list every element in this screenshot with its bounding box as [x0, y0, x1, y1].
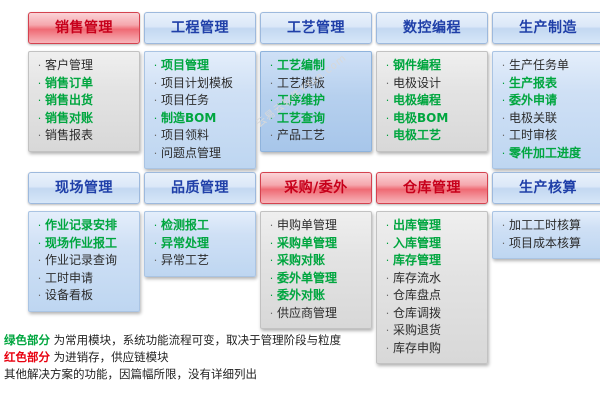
- bullet-icon: ·: [34, 93, 45, 110]
- bullet-icon: ·: [150, 76, 161, 93]
- module-item[interactable]: ·问题点管理: [150, 145, 252, 163]
- bullet-icon: ·: [498, 128, 509, 145]
- module-list-manufacturing: ·生产任务单·生产报表·委外申请·电极关联·工时审核·零件加工进度: [492, 51, 600, 169]
- bullet-icon: ·: [150, 111, 161, 128]
- module-item[interactable]: ·作业记录查询: [34, 252, 136, 270]
- module-item-label: 作业记录查询: [45, 252, 117, 269]
- module-header-process[interactable]: 工艺管理: [260, 12, 372, 44]
- bullet-icon: ·: [382, 271, 393, 288]
- module-list-purchasing: ·申购单管理·采购单管理·采购对账·委外单管理·委外对账·供应商管理: [260, 211, 372, 329]
- module-item[interactable]: ·销售订单: [34, 75, 136, 93]
- bullet-icon: ·: [266, 288, 277, 305]
- module-item-label: 产品工艺: [277, 127, 325, 144]
- bullet-icon: ·: [382, 128, 393, 145]
- bullet-icon: ·: [498, 58, 509, 75]
- bullet-icon: ·: [266, 93, 277, 110]
- module-item-label: 项目任务: [161, 92, 209, 109]
- module-column-warehouse: 仓库管理·出库管理·入库管理·库存管理·库存流水·仓库盘点·仓库调拨·采购退货·…: [376, 172, 488, 364]
- bullet-icon: ·: [150, 93, 161, 110]
- bullet-icon: ·: [266, 58, 277, 75]
- bullet-icon: ·: [382, 253, 393, 270]
- module-item[interactable]: ·委外对账: [266, 287, 368, 305]
- module-item[interactable]: ·现场作业报工: [34, 235, 136, 253]
- module-item-label: 项目管理: [161, 57, 209, 74]
- module-item[interactable]: ·项目计划模板: [150, 75, 252, 93]
- module-header-cnc[interactable]: 数控编程: [376, 12, 488, 44]
- module-item-label: 电极工艺: [393, 127, 441, 144]
- bullet-icon: ·: [34, 111, 45, 128]
- module-item[interactable]: ·库存申购: [382, 340, 484, 358]
- module-item-label: 项目计划模板: [161, 75, 233, 92]
- module-item-label: 库存管理: [393, 252, 441, 269]
- module-item-label: 异常处理: [161, 235, 209, 252]
- module-item[interactable]: ·销售对账: [34, 110, 136, 128]
- module-list-sales: ·客户管理·销售订单·销售出货·销售对账·销售报表: [28, 51, 140, 152]
- bullet-icon: ·: [150, 128, 161, 145]
- bullet-icon: ·: [34, 76, 45, 93]
- bullet-icon: ·: [34, 253, 45, 270]
- module-list-costing: ·加工工时核算·项目成本核算: [492, 211, 600, 259]
- module-item-label: 工时申请: [45, 270, 93, 287]
- legend-green-keyword: 绿色部分: [4, 333, 50, 347]
- legend-line-3: 其他解决方案的功能，因篇幅所限，没有详细列出: [4, 366, 341, 383]
- legend-block: 绿色部分 为常用模块，系统功能流程可变，取决于管理阶段与粒度 红色部分 为进销存…: [4, 332, 341, 383]
- module-item-list: ·客户管理·销售订单·销售出货·销售对账·销售报表: [34, 57, 136, 145]
- module-item-label: 电极设计: [393, 75, 441, 92]
- module-item-label: 委外单管理: [277, 270, 337, 287]
- module-column-process: 工艺管理·工艺编制·工艺模板·工序维护·工艺查询·产品工艺: [260, 12, 372, 152]
- bullet-icon: ·: [266, 111, 277, 128]
- module-item[interactable]: ·出库管理: [382, 217, 484, 235]
- module-item-label: 项目成本核算: [509, 235, 581, 252]
- module-item-list: ·作业记录安排·现场作业报工·作业记录查询·工时申请·设备看板: [34, 217, 136, 305]
- module-item[interactable]: ·工时审核: [498, 127, 600, 145]
- module-item-label: 出库管理: [393, 217, 441, 234]
- bullet-icon: ·: [498, 236, 509, 253]
- bullet-icon: ·: [382, 58, 393, 75]
- module-item-label: 入库管理: [393, 235, 441, 252]
- module-item-list: ·工艺编制·工艺模板·工序维护·工艺查询·产品工艺: [266, 57, 368, 145]
- bullet-icon: ·: [150, 236, 161, 253]
- module-item-label: 销售订单: [45, 75, 93, 92]
- bullet-icon: ·: [498, 93, 509, 110]
- module-item[interactable]: ·制造BOM: [150, 110, 252, 128]
- module-item-label: 钢件编程: [393, 57, 441, 74]
- module-item[interactable]: ·异常处理: [150, 235, 252, 253]
- bullet-icon: ·: [382, 76, 393, 93]
- bullet-icon: ·: [150, 218, 161, 235]
- module-item[interactable]: ·电极设计: [382, 75, 484, 93]
- module-item-label: 工艺编制: [277, 57, 325, 74]
- module-list-cnc: ·钢件编程·电极设计·电极编程·电极BOM·电极工艺: [376, 51, 488, 152]
- module-item-label: 销售出货: [45, 92, 93, 109]
- module-item-label: 工时审核: [509, 127, 557, 144]
- bullet-icon: ·: [34, 128, 45, 145]
- bullet-icon: ·: [266, 218, 277, 235]
- module-item[interactable]: ·项目领料: [150, 127, 252, 145]
- module-item-label: 销售报表: [45, 127, 93, 144]
- module-item-label: 异常工艺: [161, 252, 209, 269]
- module-item-label: 仓库盘点: [393, 287, 441, 304]
- module-item[interactable]: ·仓库调拨: [382, 305, 484, 323]
- module-list-process: ·工艺编制·工艺模板·工序维护·工艺查询·产品工艺: [260, 51, 372, 152]
- module-item[interactable]: ·工艺查询: [266, 110, 368, 128]
- bullet-icon: ·: [498, 76, 509, 93]
- bullet-icon: ·: [34, 288, 45, 305]
- module-item-label: 库存申购: [393, 340, 441, 357]
- module-item-label: 电极BOM: [393, 110, 448, 127]
- module-item[interactable]: ·项目管理: [150, 57, 252, 75]
- module-list-warehouse: ·出库管理·入库管理·库存管理·库存流水·仓库盘点·仓库调拨·采购退货·库存申购: [376, 211, 488, 364]
- module-item[interactable]: ·委外申请: [498, 92, 600, 110]
- module-item[interactable]: ·供应商管理: [266, 305, 368, 323]
- module-item[interactable]: ·电极BOM: [382, 110, 484, 128]
- module-column-manufacturing: 生产制造·生产任务单·生产报表·委外申请·电极关联·工时审核·零件加工进度: [492, 12, 600, 169]
- module-column-cnc: 数控编程·钢件编程·电极设计·电极编程·电极BOM·电极工艺: [376, 12, 488, 152]
- bullet-icon: ·: [382, 306, 393, 323]
- module-item-list: ·项目管理·项目计划模板·项目任务·制造BOM·项目领料·问题点管理: [150, 57, 252, 162]
- module-item[interactable]: ·销售出货: [34, 92, 136, 110]
- module-item-label: 工艺查询: [277, 110, 325, 127]
- module-item[interactable]: ·产品工艺: [266, 127, 368, 145]
- module-column-sales: 销售管理·客户管理·销售订单·销售出货·销售对账·销售报表: [28, 12, 140, 152]
- bullet-icon: ·: [382, 323, 393, 340]
- module-item[interactable]: ·客户管理: [34, 57, 136, 75]
- module-item-label: 电极编程: [393, 92, 441, 109]
- module-item-label: 作业记录安排: [45, 217, 117, 234]
- module-header-shopfloor[interactable]: 现场管理: [28, 172, 140, 204]
- module-item[interactable]: ·库存管理: [382, 252, 484, 270]
- module-item[interactable]: ·电极工艺: [382, 127, 484, 145]
- module-item-label: 制造BOM: [161, 110, 216, 127]
- module-item-list: ·钢件编程·电极设计·电极编程·电极BOM·电极工艺: [382, 57, 484, 145]
- module-item[interactable]: ·工艺编制: [266, 57, 368, 75]
- module-item-list: ·出库管理·入库管理·库存管理·库存流水·仓库盘点·仓库调拨·采购退货·库存申购: [382, 217, 484, 357]
- bullet-icon: ·: [34, 271, 45, 288]
- module-item[interactable]: ·采购单管理: [266, 235, 368, 253]
- bullet-icon: ·: [266, 76, 277, 93]
- module-item-label: 委外对账: [277, 287, 325, 304]
- module-item-label: 零件加工进度: [509, 145, 581, 162]
- module-item[interactable]: ·入库管理: [382, 235, 484, 253]
- module-column-purchasing: 采购/委外·申购单管理·采购单管理·采购对账·委外单管理·委外对账·供应商管理: [260, 172, 372, 329]
- bullet-icon: ·: [382, 341, 393, 358]
- legend-red-text: 为进销存，供应链模块: [50, 350, 169, 364]
- module-item-label: 供应商管理: [277, 305, 337, 322]
- module-item-label: 项目领料: [161, 127, 209, 144]
- legend-line-1: 绿色部分 为常用模块，系统功能流程可变，取决于管理阶段与粒度: [4, 332, 341, 349]
- module-header-engineering[interactable]: 工程管理: [144, 12, 256, 44]
- module-item-label: 仓库调拨: [393, 305, 441, 322]
- module-header-warehouse[interactable]: 仓库管理: [376, 172, 488, 204]
- bullet-icon: ·: [150, 146, 161, 163]
- module-column-quality: 品质管理·检测报工·异常处理·异常工艺: [144, 172, 256, 277]
- module-item[interactable]: ·项目任务: [150, 92, 252, 110]
- module-item[interactable]: ·申购单管理: [266, 217, 368, 235]
- module-item[interactable]: ·设备看板: [34, 287, 136, 305]
- module-list-quality: ·检测报工·异常处理·异常工艺: [144, 211, 256, 277]
- bullet-icon: ·: [266, 271, 277, 288]
- bullet-icon: ·: [266, 128, 277, 145]
- module-item-label: 检测报工: [161, 217, 209, 234]
- module-item-label: 生产报表: [509, 75, 557, 92]
- module-item-label: 加工工时核算: [509, 217, 581, 234]
- module-item[interactable]: ·钢件编程: [382, 57, 484, 75]
- module-item[interactable]: ·生产报表: [498, 75, 600, 93]
- bullet-icon: ·: [266, 306, 277, 323]
- module-item[interactable]: ·零件加工进度: [498, 145, 600, 163]
- module-item[interactable]: ·异常工艺: [150, 252, 252, 270]
- module-item-label: 工序维护: [277, 92, 325, 109]
- module-header-manufacturing[interactable]: 生产制造: [492, 12, 600, 44]
- module-item[interactable]: ·委外单管理: [266, 270, 368, 288]
- module-item-label: 申购单管理: [277, 217, 337, 234]
- module-item-label: 设备看板: [45, 287, 93, 304]
- module-item-label: 委外申请: [509, 92, 557, 109]
- module-item[interactable]: ·工时申请: [34, 270, 136, 288]
- module-header-quality[interactable]: 品质管理: [144, 172, 256, 204]
- module-item[interactable]: ·仓库盘点: [382, 287, 484, 305]
- module-item[interactable]: ·销售报表: [34, 127, 136, 145]
- module-item-label: 工艺模板: [277, 75, 325, 92]
- module-item-list: ·检测报工·异常处理·异常工艺: [150, 217, 252, 270]
- module-item[interactable]: ·电极关联: [498, 110, 600, 128]
- bullet-icon: ·: [266, 236, 277, 253]
- module-item[interactable]: ·工艺模板: [266, 75, 368, 93]
- module-item-label: 库存流水: [393, 270, 441, 287]
- module-item[interactable]: ·采购退货: [382, 322, 484, 340]
- module-item[interactable]: ·项目成本核算: [498, 235, 600, 253]
- module-item[interactable]: ·加工工时核算: [498, 217, 600, 235]
- module-list-engineering: ·项目管理·项目计划模板·项目任务·制造BOM·项目领料·问题点管理: [144, 51, 256, 169]
- bullet-icon: ·: [498, 218, 509, 235]
- module-header-costing[interactable]: 生产核算: [492, 172, 600, 204]
- module-item[interactable]: ·库存流水: [382, 270, 484, 288]
- legend-red-keyword: 红色部分: [4, 350, 50, 364]
- module-item[interactable]: ·检测报工: [150, 217, 252, 235]
- module-item-label: 电极关联: [509, 110, 557, 127]
- bullet-icon: ·: [498, 111, 509, 128]
- module-item-label: 销售对账: [45, 110, 93, 127]
- bullet-icon: ·: [150, 58, 161, 75]
- module-item-label: 采购单管理: [277, 235, 337, 252]
- module-item-label: 生产任务单: [509, 57, 569, 74]
- bullet-icon: ·: [34, 236, 45, 253]
- legend-line-2: 红色部分 为进销存，供应链模块: [4, 349, 341, 366]
- module-item-list: ·加工工时核算·项目成本核算: [498, 217, 600, 252]
- bullet-icon: ·: [382, 111, 393, 128]
- bullet-icon: ·: [382, 288, 393, 305]
- bullet-icon: ·: [382, 218, 393, 235]
- module-item-list: ·生产任务单·生产报表·委外申请·电极关联·工时审核·零件加工进度: [498, 57, 600, 162]
- module-item-label: 问题点管理: [161, 145, 221, 162]
- bullet-icon: ·: [266, 253, 277, 270]
- bullet-icon: ·: [150, 253, 161, 270]
- module-item[interactable]: ·电极编程: [382, 92, 484, 110]
- bullet-icon: ·: [382, 93, 393, 110]
- module-item-label: 客户管理: [45, 57, 93, 74]
- module-column-shopfloor: 现场管理·作业记录安排·现场作业报工·作业记录查询·工时申请·设备看板: [28, 172, 140, 312]
- module-header-sales[interactable]: 销售管理: [28, 12, 140, 44]
- module-item-label: 采购退货: [393, 322, 441, 339]
- module-item-label: 采购对账: [277, 252, 325, 269]
- module-item[interactable]: ·作业记录安排: [34, 217, 136, 235]
- module-item[interactable]: ·采购对账: [266, 252, 368, 270]
- legend-green-text: 为常用模块，系统功能流程可变，取决于管理阶段与粒度: [50, 333, 341, 347]
- bullet-icon: ·: [34, 58, 45, 75]
- module-item[interactable]: ·工序维护: [266, 92, 368, 110]
- module-item-label: 现场作业报工: [45, 235, 117, 252]
- module-list-shopfloor: ·作业记录安排·现场作业报工·作业记录查询·工时申请·设备看板: [28, 211, 140, 312]
- bullet-icon: ·: [498, 146, 509, 163]
- module-column-engineering: 工程管理·项目管理·项目计划模板·项目任务·制造BOM·项目领料·问题点管理: [144, 12, 256, 169]
- bullet-icon: ·: [382, 236, 393, 253]
- module-header-purchasing[interactable]: 采购/委外: [260, 172, 372, 204]
- module-map-board: 云易云软件YYun.com 销售管理·客户管理·销售订单·销售出货·销售对账·销…: [0, 0, 600, 400]
- bullet-icon: ·: [34, 218, 45, 235]
- module-column-costing: 生产核算·加工工时核算·项目成本核算: [492, 172, 600, 259]
- module-item-list: ·申购单管理·采购单管理·采购对账·委外单管理·委外对账·供应商管理: [266, 217, 368, 322]
- module-item[interactable]: ·生产任务单: [498, 57, 600, 75]
